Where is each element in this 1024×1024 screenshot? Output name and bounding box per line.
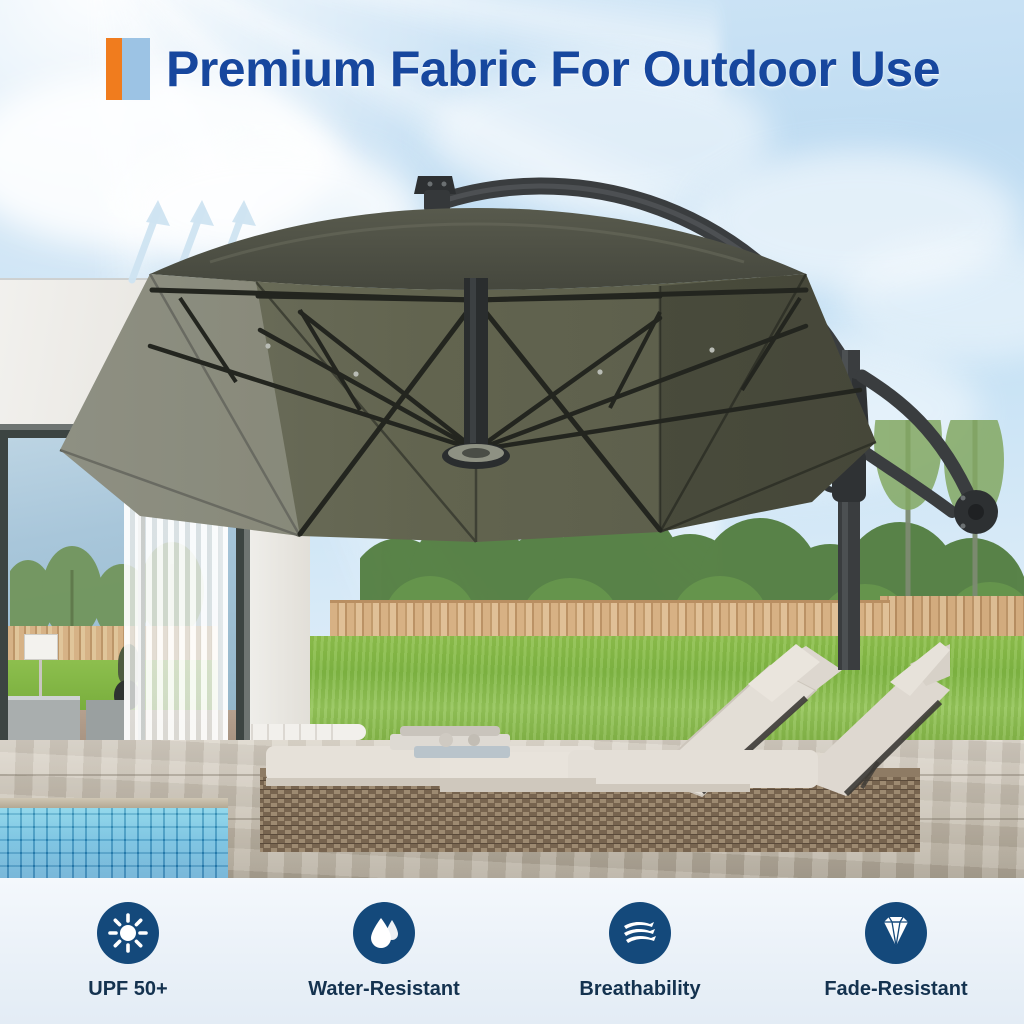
feature-label: Water-Resistant xyxy=(308,978,460,1001)
accent-bar-orange xyxy=(106,38,122,100)
cantilever-patio-umbrella xyxy=(0,150,1024,670)
feature-item: Fade-Resistant xyxy=(768,902,1024,1001)
swimming-pool xyxy=(0,808,228,878)
feature-label: Fade-Resistant xyxy=(824,978,967,1001)
feature-item: UPF 50+ xyxy=(0,902,256,1001)
water-drop-icon xyxy=(353,902,415,964)
diamond-icon xyxy=(865,902,927,964)
accent-bar-blue xyxy=(120,38,150,100)
pool-mosaic-tiles xyxy=(0,808,228,878)
feature-label: Breathability xyxy=(579,978,700,1001)
accent-bar xyxy=(106,38,150,100)
feature-item: Breathability xyxy=(512,902,768,1001)
feature-label: UPF 50+ xyxy=(88,978,167,1001)
sun-icon xyxy=(97,902,159,964)
headline-block: Premium Fabric For Outdoor Use xyxy=(106,38,940,100)
hero-photo xyxy=(0,0,1024,878)
wind-flow-icon xyxy=(609,902,671,964)
product-feature-image: Premium Fabric For Outdoor Use UPF 50+ xyxy=(0,0,1024,1024)
feature-bar: UPF 50+ Water-Resistant xyxy=(0,878,1024,1024)
page-title: Premium Fabric For Outdoor Use xyxy=(166,40,940,98)
feature-item: Water-Resistant xyxy=(256,902,512,1001)
